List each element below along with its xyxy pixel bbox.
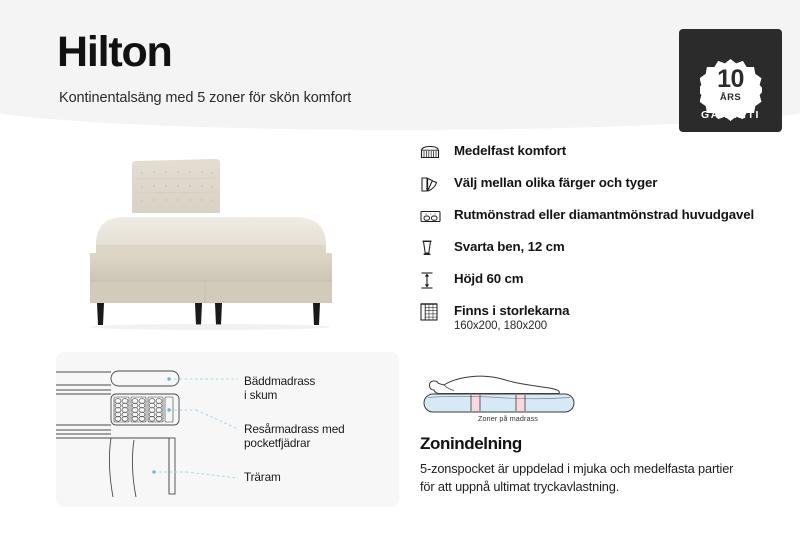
- diagram-label-spring-line2: pocketfjädrar: [244, 436, 310, 450]
- fabric-swatch-icon: [420, 171, 454, 196]
- feature-item-fabrics: Välj mellan olika färger och tyger: [420, 171, 780, 203]
- zone-section-body: 5-zonspocket är uppdelad i mjuka och med…: [420, 460, 750, 495]
- diagram-label-topper-line2: i skum: [244, 388, 277, 402]
- zone-mattress-illustration: [420, 368, 600, 418]
- feature-label: Rutmönstrad eller diamantmönstrad huvudg…: [454, 203, 754, 227]
- diagram-label-wood-frame: Träram: [244, 470, 281, 484]
- feature-item-height: Höjd 60 cm: [420, 267, 780, 299]
- page-subtitle: Kontinentalsäng med 5 zoner för skön kom…: [59, 90, 351, 106]
- warranty-label: GARANTI: [679, 109, 782, 121]
- warranty-years-number: 10: [679, 67, 782, 92]
- zone-illustration-caption: Zoner på madrass: [428, 414, 588, 423]
- bed-illustration: [60, 145, 390, 335]
- product-photo: [60, 145, 390, 335]
- diagram-label-topper: Bäddmadrass i skum: [244, 374, 315, 402]
- warranty-years-unit: ÅRS: [679, 93, 782, 103]
- zone-illustration-wrap: Zoner på madrass: [420, 368, 600, 424]
- feature-item-comfort: Medelfast komfort: [420, 139, 780, 171]
- feature-item-sizes: Finns i storlekarna 160x200, 180x200: [420, 299, 780, 333]
- warranty-badge: 10 ÅRS GARANTI: [679, 29, 782, 132]
- feature-item-headboard: Rutmönstrad eller diamantmönstrad huvudg…: [420, 203, 780, 235]
- height-arrow-icon: [420, 267, 454, 292]
- feature-list: Medelfast komfort Välj mellan olika färg…: [420, 139, 780, 333]
- diagram-label-spring-mattress: Resårmadrass med pocketfjädrar: [244, 422, 345, 450]
- feature-label: Välj mellan olika färger och tyger: [454, 171, 657, 195]
- feature-label: Höjd 60 cm: [454, 267, 523, 291]
- page-title: Hilton: [57, 31, 172, 74]
- zone-section: Zoner på madrass Zonindelning 5-zonspock…: [420, 368, 780, 424]
- bed-leg-icon: [420, 235, 454, 260]
- diagram-label-spring-line1: Resårmadrass med: [244, 422, 345, 436]
- bed-cross-section-illustration: [56, 352, 399, 507]
- feature-label: Medelfast komfort: [454, 139, 566, 163]
- size-grid-icon: [420, 299, 454, 324]
- diagram-label-frame-line1: Träram: [244, 470, 281, 484]
- feature-label: Svarta ben, 12 cm: [454, 235, 565, 259]
- product-info-page: Hilton Kontinentalsäng med 5 zoner för s…: [0, 0, 800, 533]
- feature-item-legs: Svarta ben, 12 cm: [420, 235, 780, 267]
- mattress-icon: [420, 139, 454, 164]
- diagram-label-topper-line1: Bäddmadrass: [244, 374, 315, 388]
- headboard-icon: [420, 203, 454, 228]
- construction-diagram: Bäddmadrass i skum Resårmadrass med pock…: [56, 352, 399, 507]
- zone-section-title: Zonindelning: [420, 434, 522, 454]
